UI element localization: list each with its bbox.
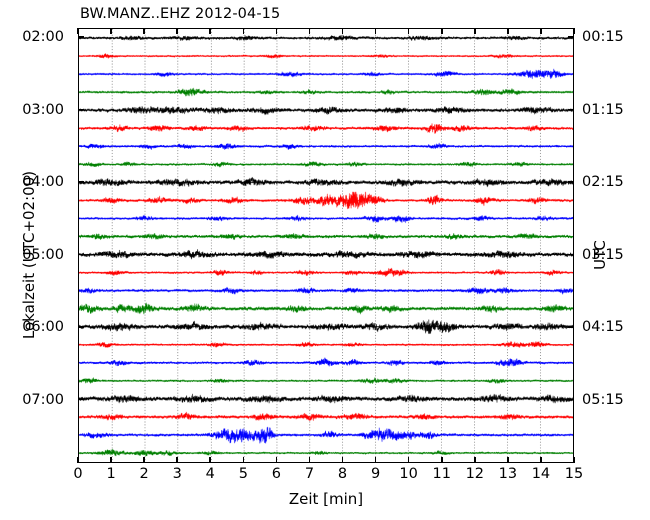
bottom-axis-tick-mark (573, 457, 575, 463)
right-axis-tick-mark (568, 181, 574, 183)
bottom-axis-tick-label: 8 (338, 466, 347, 482)
bottom-axis-tick-label: 4 (206, 466, 215, 482)
bottom-axis-tick-label: 0 (73, 466, 82, 482)
bottom-axis-tick-mark (441, 457, 443, 463)
top-axis-tick-mark (309, 28, 311, 34)
right-axis-label: UTC (591, 195, 609, 315)
bottom-axis-tick-mark (507, 457, 509, 463)
left-axis-tick-mark (78, 254, 84, 256)
top-axis-tick-mark (77, 28, 79, 34)
bottom-axis-tick-mark (176, 457, 178, 463)
top-axis-tick-mark (176, 28, 178, 34)
bottom-axis-tick-mark (276, 457, 278, 463)
bottom-axis-tick-mark (474, 457, 476, 463)
right-axis-tick-label: 05:15 (582, 392, 624, 408)
left-axis-tick-mark (78, 399, 84, 401)
bottom-axis-tick-label: 11 (432, 466, 450, 482)
top-axis-tick-mark (342, 28, 344, 34)
bottom-axis-tick-mark (110, 457, 112, 463)
left-axis-tick-mark (78, 326, 84, 328)
plot-title: BW.MANZ..EHZ 2012-04-15 (80, 6, 280, 22)
bottom-axis-tick-mark (209, 457, 211, 463)
bottom-axis-tick-label: 14 (532, 466, 550, 482)
bottom-axis-tick-mark (243, 457, 245, 463)
bottom-axis-tick-mark (77, 457, 79, 463)
right-axis-tick-mark (568, 109, 574, 111)
traces-canvas-wrapper (79, 29, 573, 462)
seismic-traces-canvas (79, 29, 573, 462)
bottom-axis-tick-label: 10 (399, 466, 417, 482)
bottom-axis-tick-label: 6 (272, 466, 281, 482)
bottom-axis-tick-label: 15 (565, 466, 583, 482)
right-axis-tick-label: 04:15 (582, 319, 624, 335)
top-axis-tick-mark (441, 28, 443, 34)
bottom-axis-tick-mark (309, 457, 311, 463)
left-axis-label: Lokalzeit (UTC+02:00) (20, 140, 38, 370)
left-axis-tick-mark (78, 181, 84, 183)
bottom-axis-tick-label: 12 (466, 466, 484, 482)
right-axis-tick-label: 01:15 (582, 102, 624, 118)
bottom-axis-tick-label: 2 (140, 466, 149, 482)
top-axis-tick-mark (375, 28, 377, 34)
bottom-axis-tick-label: 9 (371, 466, 380, 482)
right-axis-tick-mark (568, 254, 574, 256)
bottom-axis-tick-label: 13 (499, 466, 517, 482)
right-axis-tick-mark (568, 36, 574, 38)
top-axis-tick-mark (143, 28, 145, 34)
left-axis-tick-mark (78, 109, 84, 111)
bottom-axis-tick-label: 1 (106, 466, 115, 482)
bottom-axis-label: Zeit [min] (78, 490, 574, 508)
right-axis-tick-label: 02:15 (582, 174, 624, 190)
left-axis-tick-mark (78, 36, 84, 38)
bottom-axis-tick-mark (342, 457, 344, 463)
top-axis-tick-mark (276, 28, 278, 34)
top-axis-tick-mark (408, 28, 410, 34)
seismogram-figure: BW.MANZ..EHZ 2012-04-15 02:0003:0004:000… (0, 0, 650, 520)
top-axis-tick-mark (110, 28, 112, 34)
top-axis-tick-mark (209, 28, 211, 34)
left-axis-tick-label: 02:00 (22, 29, 64, 45)
left-axis-tick-label: 03:00 (22, 102, 64, 118)
right-axis-tick-mark (568, 326, 574, 328)
bottom-axis-tick-mark (375, 457, 377, 463)
bottom-axis-tick-label: 5 (239, 466, 248, 482)
top-axis-tick-mark (474, 28, 476, 34)
bottom-axis-tick-label: 3 (173, 466, 182, 482)
right-axis-tick-mark (568, 399, 574, 401)
right-axis-tick-label: 00:15 (582, 29, 624, 45)
top-axis-tick-mark (507, 28, 509, 34)
left-axis-tick-label: 07:00 (22, 392, 64, 408)
top-axis-tick-mark (540, 28, 542, 34)
top-axis-tick-mark (243, 28, 245, 34)
plot-area (78, 28, 574, 463)
bottom-axis-tick-mark (408, 457, 410, 463)
bottom-axis-tick-label: 7 (305, 466, 314, 482)
bottom-axis-tick-mark (540, 457, 542, 463)
bottom-axis-tick-mark (143, 457, 145, 463)
top-axis-tick-mark (573, 28, 575, 34)
